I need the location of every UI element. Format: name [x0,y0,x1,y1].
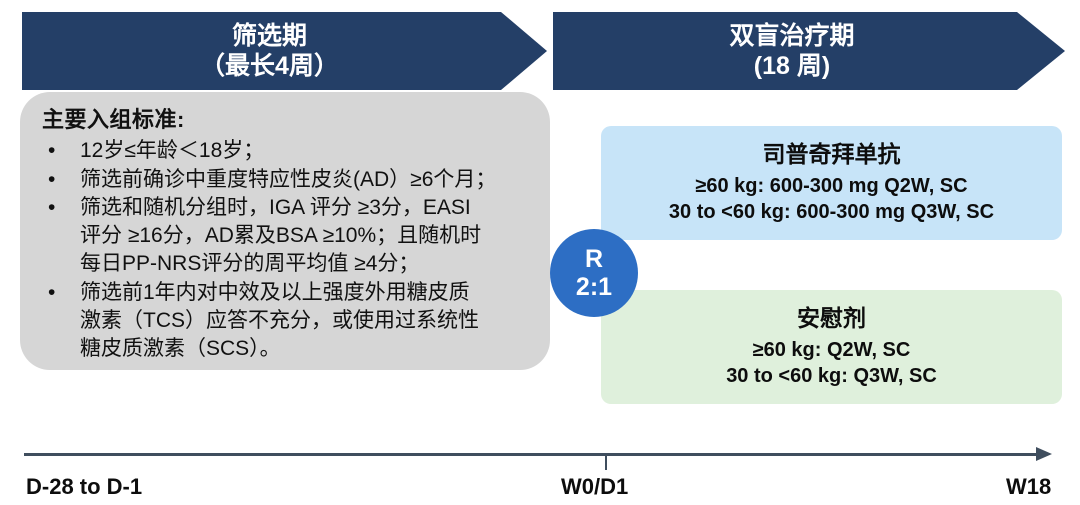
criteria-item-line: 筛选前确诊中重度特应性皮炎(AD）≥6个月； [80,168,496,191]
timeline-label-w0d1: W0/D1 [561,474,628,500]
treatment-arm-placebo-dose-line: 30 to <60 kg: Q3W, SC [726,363,937,390]
timeline-axis-line [24,453,1038,456]
bullet-icon: • [48,166,55,194]
treatment-arm-active-dose-line: 30 to <60 kg: 600-300 mg Q3W, SC [669,199,994,226]
bullet-icon: • [48,279,55,307]
timeline-label-start: D-28 to D-1 [26,474,142,500]
criteria-item: • 筛选前确诊中重度特应性皮炎(AD）≥6个月； [42,166,530,194]
phase-screening-title: 筛选期 [232,21,307,52]
randomization-node: R 2:1 [550,229,638,317]
criteria-item-line: 激素（TCS）应答不充分，或使用过系统性 [80,309,479,332]
treatment-arm-placebo-drug: 安慰剂 [797,304,866,334]
treatment-arm-placebo: 安慰剂 ≥60 kg: Q2W, SC 30 to <60 kg: Q3W, S… [601,290,1062,404]
phase-screening-duration: （最长4周） [200,51,339,82]
randomization-ratio: 2:1 [576,273,612,301]
criteria-item: • 筛选前1年内对中效及以上强度外用糖皮质 激素（TCS）应答不充分，或使用过系… [42,279,530,363]
treatment-arm-active: 司普奇拜单抗 ≥60 kg: 600-300 mg Q2W, SC 30 to … [601,126,1062,240]
study-timeline: D-28 to D-1 W0/D1 W18 [0,440,1080,505]
phase-banner-double-blind-treatment: 双盲治疗期 (18 周) [553,12,1065,90]
criteria-item: • 12岁≤年龄＜18岁； [42,137,530,165]
randomization-letter: R [585,245,603,273]
criteria-item-line: 评分 ≥16分，AD累及BSA ≥10%；且随机时 [80,224,481,247]
criteria-item-line: 筛选和随机分组时，IGA 评分 ≥3分，EASI [80,196,471,219]
treatment-arm-active-drug: 司普奇拜单抗 [763,140,901,170]
criteria-item: • 筛选和随机分组时，IGA 评分 ≥3分，EASI 评分 ≥16分，AD累及B… [42,194,530,278]
timeline-arrowhead-icon [1036,447,1052,461]
treatment-arm-active-dose-line: ≥60 kg: 600-300 mg Q2W, SC [695,173,967,200]
criteria-item-line: 12岁≤年龄＜18岁； [80,139,264,162]
treatment-arm-placebo-dose-line: ≥60 kg: Q2W, SC [753,337,911,364]
phase-banner-screening: 筛选期 （最长4周） [22,12,547,90]
criteria-item-line: 筛选前1年内对中效及以上强度外用糖皮质 [80,281,470,304]
criteria-item-line: 每日PP-NRS评分的周平均值 ≥4分； [80,252,419,275]
phase-treatment-duration: (18 周) [754,51,830,82]
timeline-label-end: W18 [1006,474,1051,500]
criteria-item-line: 糖皮质激素（SCS）。 [80,337,281,360]
inclusion-criteria-list: • 12岁≤年龄＜18岁； • 筛选前确诊中重度特应性皮炎(AD）≥6个月； •… [42,137,530,363]
inclusion-criteria-title: 主要入组标准: [42,106,530,135]
bullet-icon: • [48,194,55,222]
inclusion-criteria-card: 主要入组标准: • 12岁≤年龄＜18岁； • 筛选前确诊中重度特应性皮炎(AD… [20,92,550,370]
bullet-icon: • [48,137,55,165]
study-design-diagram: 筛选期 （最长4周） 双盲治疗期 (18 周) 主要入组标准: • 12岁≤年龄… [0,0,1080,505]
timeline-tick-w0d1 [605,455,607,470]
phase-treatment-title: 双盲治疗期 [729,21,854,52]
